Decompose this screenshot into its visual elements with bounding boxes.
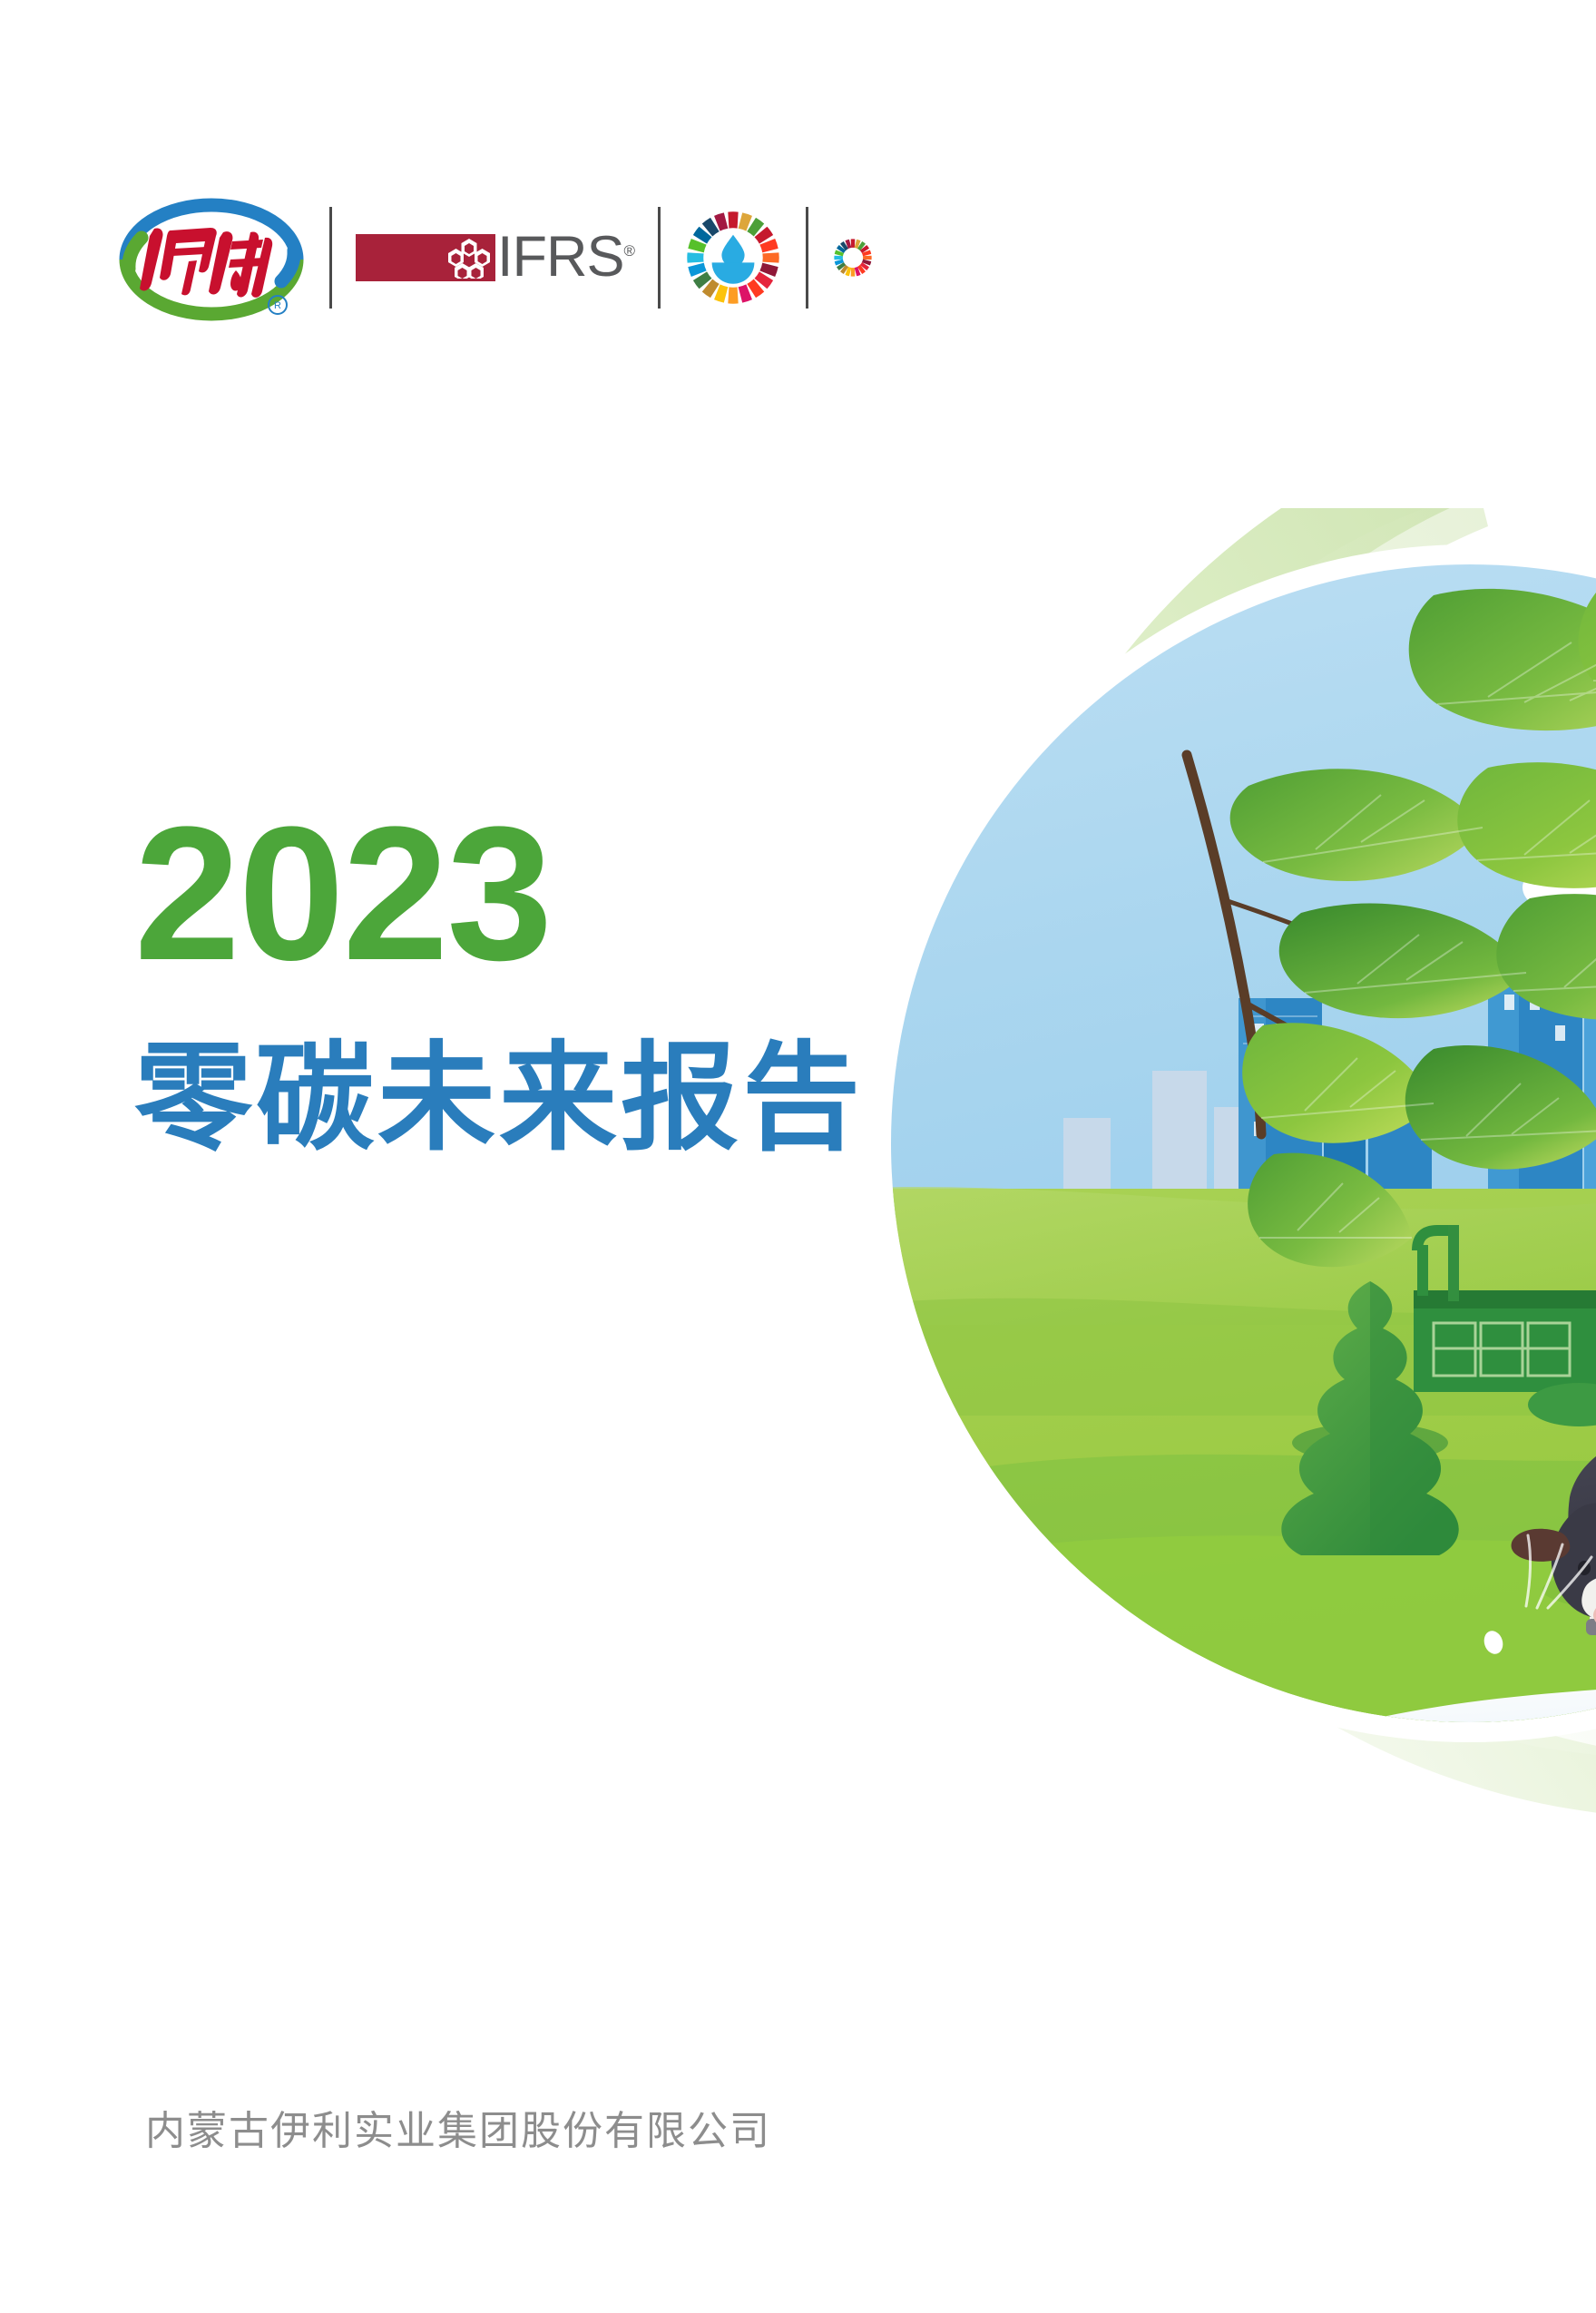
grass-tufts (1526, 1535, 1596, 1708)
milk-splash (1243, 1668, 1596, 1779)
logo-bar: R (118, 178, 874, 337)
ifrs-logo: IFRS® (356, 203, 634, 312)
city-skyline-far (1063, 1071, 1254, 1189)
logo-divider-3 (806, 207, 808, 309)
green-meadow (853, 1187, 1596, 1779)
circular-sustainability-illustration (853, 508, 1596, 1869)
water-drop-bowl-icon (712, 234, 755, 283)
logo-divider-1 (329, 207, 332, 309)
cow-legs (1586, 1553, 1596, 1637)
green-swoosh-arc (969, 508, 1596, 1818)
sdg-wheel-icon (684, 209, 782, 307)
sky (853, 508, 1596, 1216)
yili-character-yi (140, 228, 217, 295)
clouds (1523, 739, 1596, 920)
ifrs-wordmark-text: IFRS (497, 225, 624, 289)
logo-divider-2 (658, 207, 661, 309)
leaf-cluster (1230, 568, 1596, 1267)
ifrs-red-box (356, 234, 495, 281)
sdg-wordmark (832, 238, 874, 278)
company-name: 内蒙古伊利实业集团股份有限公司 (145, 2105, 771, 2158)
yili-logo: R (118, 194, 306, 321)
sdg-wordmark-line3 (832, 238, 874, 278)
sdg-wheel-o-icon (833, 238, 873, 278)
page-title: 零碳未来报告 (134, 1030, 864, 1166)
white-ring (871, 544, 1596, 1742)
green-factory (1414, 1225, 1596, 1426)
scene-content (853, 508, 1596, 1779)
report-year: 2023 (134, 799, 551, 989)
yili-character-li (209, 231, 272, 298)
city-skyline (1239, 935, 1596, 1191)
dairy-cow (1512, 1428, 1596, 1637)
ifrs-registered-mark: ® (624, 242, 635, 260)
cover-page: R (0, 0, 1596, 2313)
svg-text:R: R (274, 300, 281, 311)
ifrs-wordmark: IFRS® (497, 229, 634, 286)
shrub (1281, 1281, 1458, 1555)
bush-row (1528, 1376, 1596, 1426)
ifrs-flower-icon (447, 237, 491, 279)
tree-branch-with-leaves (1187, 568, 1596, 1267)
daisies (1481, 1576, 1596, 1712)
